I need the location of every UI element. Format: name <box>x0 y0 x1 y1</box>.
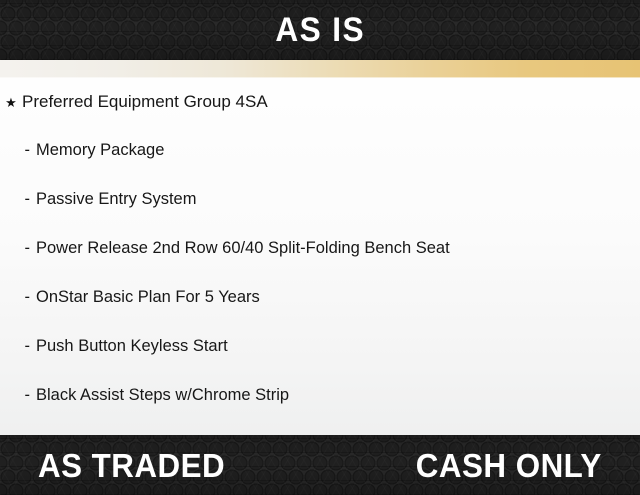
list-item: - Black Assist Steps w/Chrome Strip <box>0 386 640 435</box>
list-item: ★ Preferred Equipment Group 4SA <box>0 92 640 141</box>
feature-label: Preferred Equipment Group 4SA <box>22 92 268 112</box>
dash-bullet-icon: - <box>0 141 36 160</box>
dash-bullet-icon: - <box>0 288 36 307</box>
gold-gradient-divider <box>0 60 640 78</box>
list-item: - OnStar Basic Plan For 5 Years <box>0 288 640 337</box>
list-item: - Memory Package <box>0 141 640 190</box>
header-banner: AS IS <box>0 0 640 60</box>
feature-label: Power Release 2nd Row 60/40 Split-Foldin… <box>36 239 450 258</box>
star-bullet-icon: ★ <box>0 96 22 109</box>
list-item: - Passive Entry System <box>0 190 640 239</box>
window-sticker: AS IS ★ Preferred Equipment Group 4SA - … <box>0 0 640 480</box>
feature-label: Push Button Keyless Start <box>36 337 228 356</box>
dash-bullet-icon: - <box>0 337 36 356</box>
list-item: - Push Button Keyless Start <box>0 337 640 386</box>
dash-bullet-icon: - <box>0 386 36 405</box>
footer-cash-only-label: CASH ONLY <box>416 449 602 482</box>
list-item: - Power Release 2nd Row 60/40 Split-Fold… <box>0 239 640 288</box>
feature-label: Black Assist Steps w/Chrome Strip <box>36 386 289 405</box>
feature-list: ★ Preferred Equipment Group 4SA - Memory… <box>0 78 640 435</box>
header-title: AS IS <box>275 13 365 47</box>
dash-bullet-icon: - <box>0 190 36 209</box>
feature-list-panel: ★ Preferred Equipment Group 4SA - Memory… <box>0 78 640 435</box>
feature-label: Memory Package <box>36 141 164 160</box>
footer-as-traded-label: AS TRADED <box>38 449 225 482</box>
dash-bullet-icon: - <box>0 239 36 258</box>
feature-label: Passive Entry System <box>36 190 196 209</box>
footer-banner: AS TRADED CASH ONLY <box>0 435 640 495</box>
feature-label: OnStar Basic Plan For 5 Years <box>36 288 260 307</box>
